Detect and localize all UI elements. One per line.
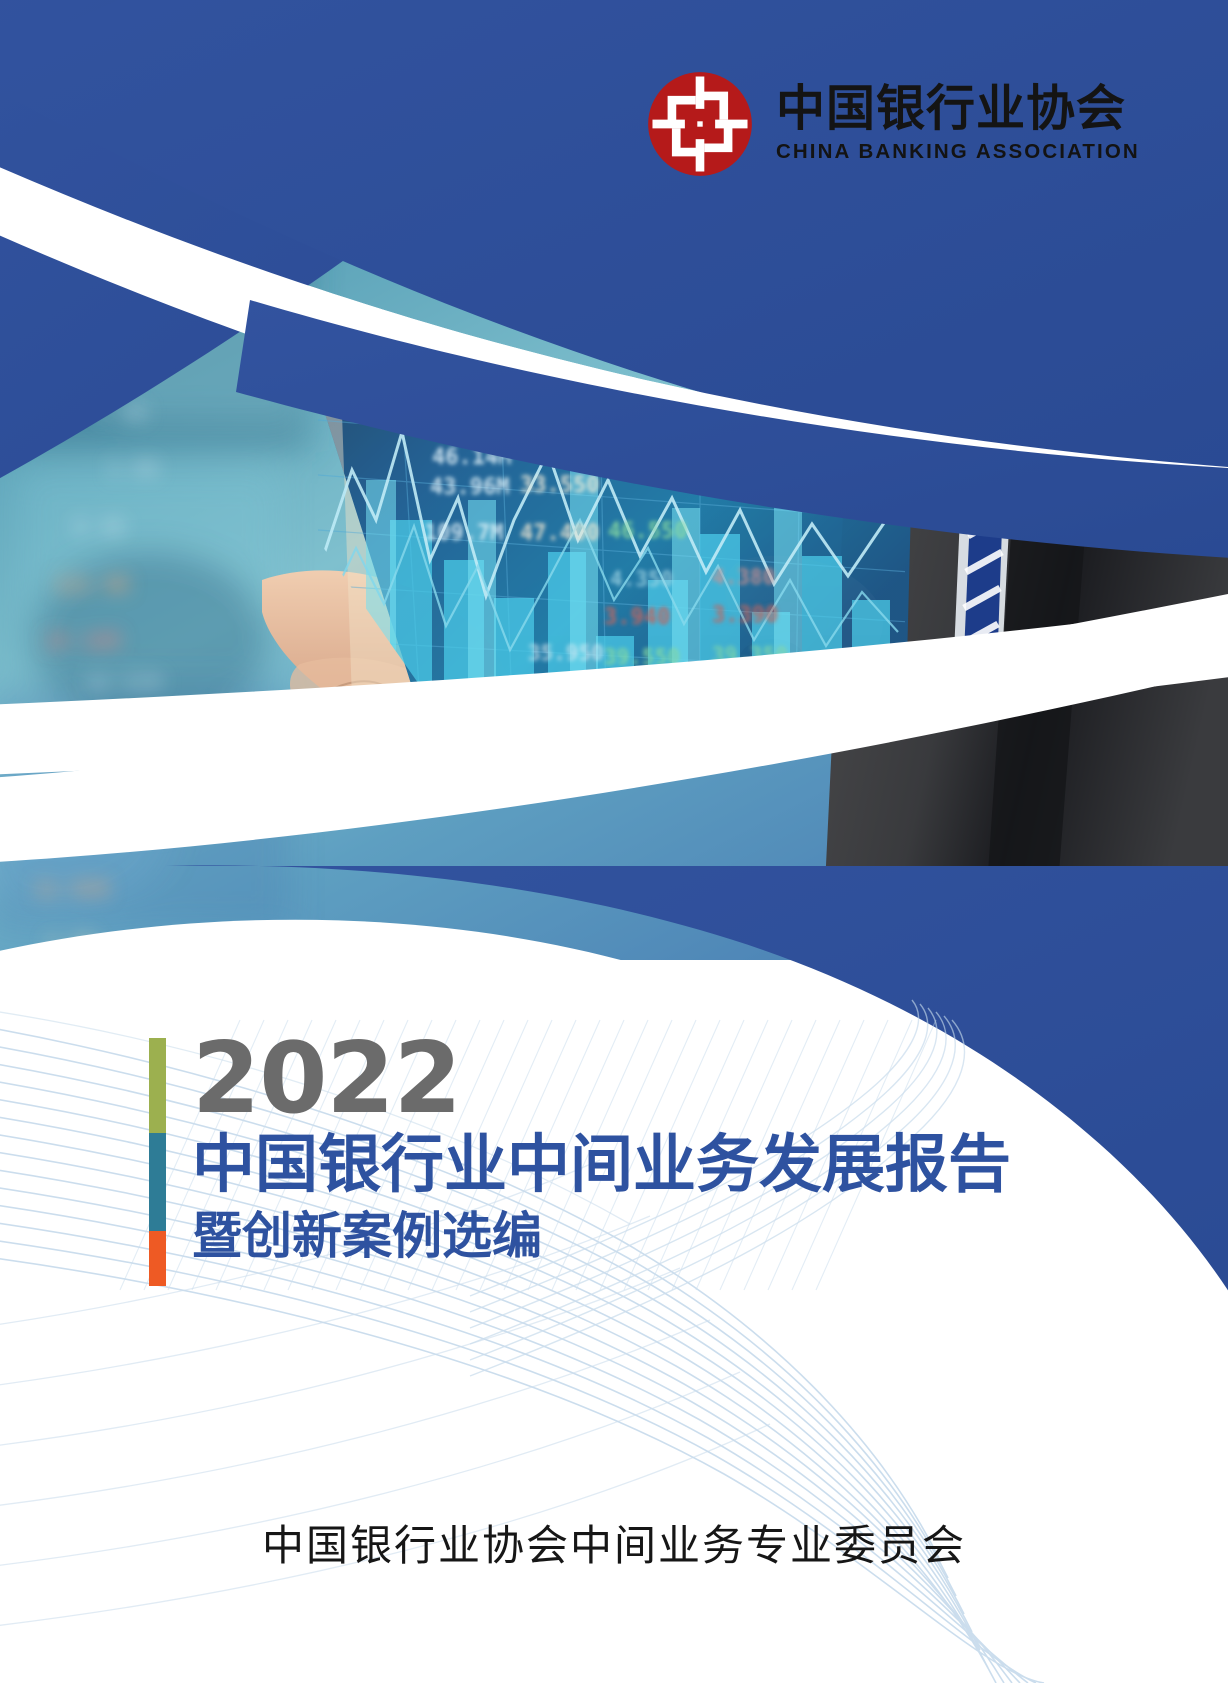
report-cover-page: 13.4K 819.4X 4 5K 1 6N 1 68 6 1K 121 6K … <box>0 0 1228 1683</box>
svg-text:11 82K: 11 82K <box>34 877 110 901</box>
accent-segment-teal <box>149 1133 166 1231</box>
china-banking-association-emblem-icon <box>646 70 754 178</box>
svg-text:6 1K: 6 1K <box>74 515 125 539</box>
logo-name-cn: 中国银行业协会 <box>776 84 1140 134</box>
svg-text:18 16M: 18 16M <box>44 629 120 653</box>
svg-text:121 6K: 121 6K <box>54 573 130 597</box>
accent-segment-orange <box>149 1231 166 1286</box>
report-subtitle: 暨创新案例选编 <box>192 1207 1049 1265</box>
report-title: 中国银行业中间业务发展报告 <box>192 1130 1049 1199</box>
svg-text:64 63M: 64 63M <box>86 671 162 695</box>
logo-name-en: CHINA BANKING ASSOCIATION <box>776 140 1140 164</box>
accent-bar <box>149 1038 166 1286</box>
cover-artwork: 13.4K 819.4X 4 5K 1 6N 1 68 6 1K 121 6K … <box>0 0 1228 1683</box>
publisher-organization: 中国银行业协会中间业务专业委员会 <box>0 1512 1228 1573</box>
title-block: 2022 中国银行业中间业务发展报告 暨创新案例选编 <box>149 1032 1049 1265</box>
report-year: 2022 <box>192 1032 1049 1126</box>
accent-segment-green <box>149 1038 166 1133</box>
association-logo: 中国银行业协会 CHINA BANKING ASSOCIATION <box>646 70 1140 178</box>
svg-text:1 68: 1 68 <box>108 457 159 481</box>
